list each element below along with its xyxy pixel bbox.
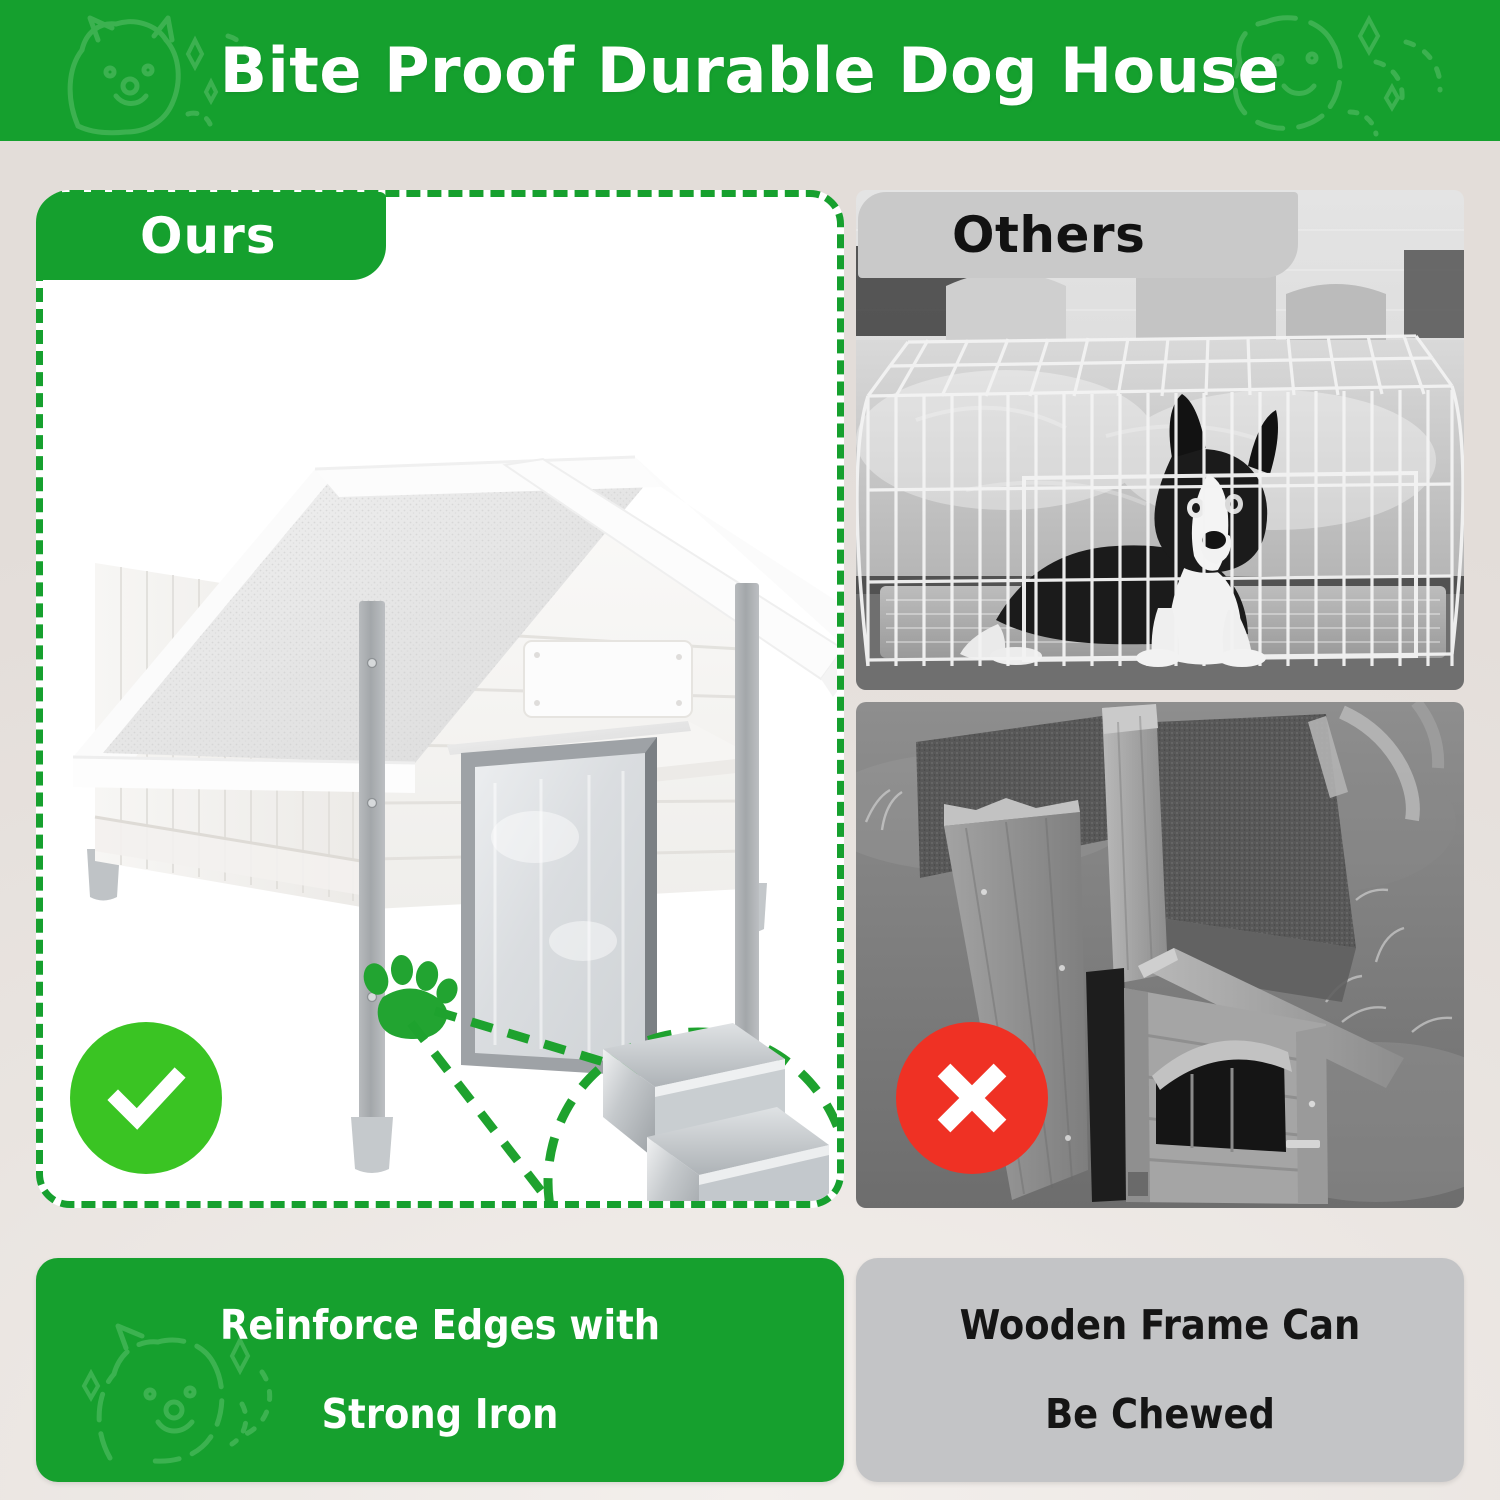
comparison-infographic: Bite Proof Durable Dog House: [0, 0, 1500, 1500]
ours-caption: Reinforce Edges with Strong Iron: [36, 1258, 844, 1482]
page-title: Bite Proof Durable Dog House: [0, 0, 1500, 141]
header-banner: Bite Proof Durable Dog House: [0, 0, 1500, 141]
x-circle-icon: [896, 1022, 1048, 1174]
others-caption-line-1: Wooden Frame Can: [960, 1304, 1361, 1347]
check-circle-icon: [70, 1022, 222, 1174]
others-badge-label: Others: [952, 206, 1145, 264]
others-caption-line-2: Be Chewed: [1045, 1393, 1275, 1436]
others-caption: Wooden Frame Can Be Chewed: [856, 1258, 1464, 1482]
ours-caption-line-1: Reinforce Edges with: [220, 1304, 660, 1347]
nameplate: [524, 641, 692, 717]
ours-badge: Ours: [36, 192, 386, 280]
ours-badge-label: Ours: [140, 207, 277, 265]
others-badge: Others: [858, 192, 1298, 278]
iron-angle-bars: [603, 1023, 829, 1208]
ours-caption-line-2: Strong Iron: [322, 1393, 559, 1436]
